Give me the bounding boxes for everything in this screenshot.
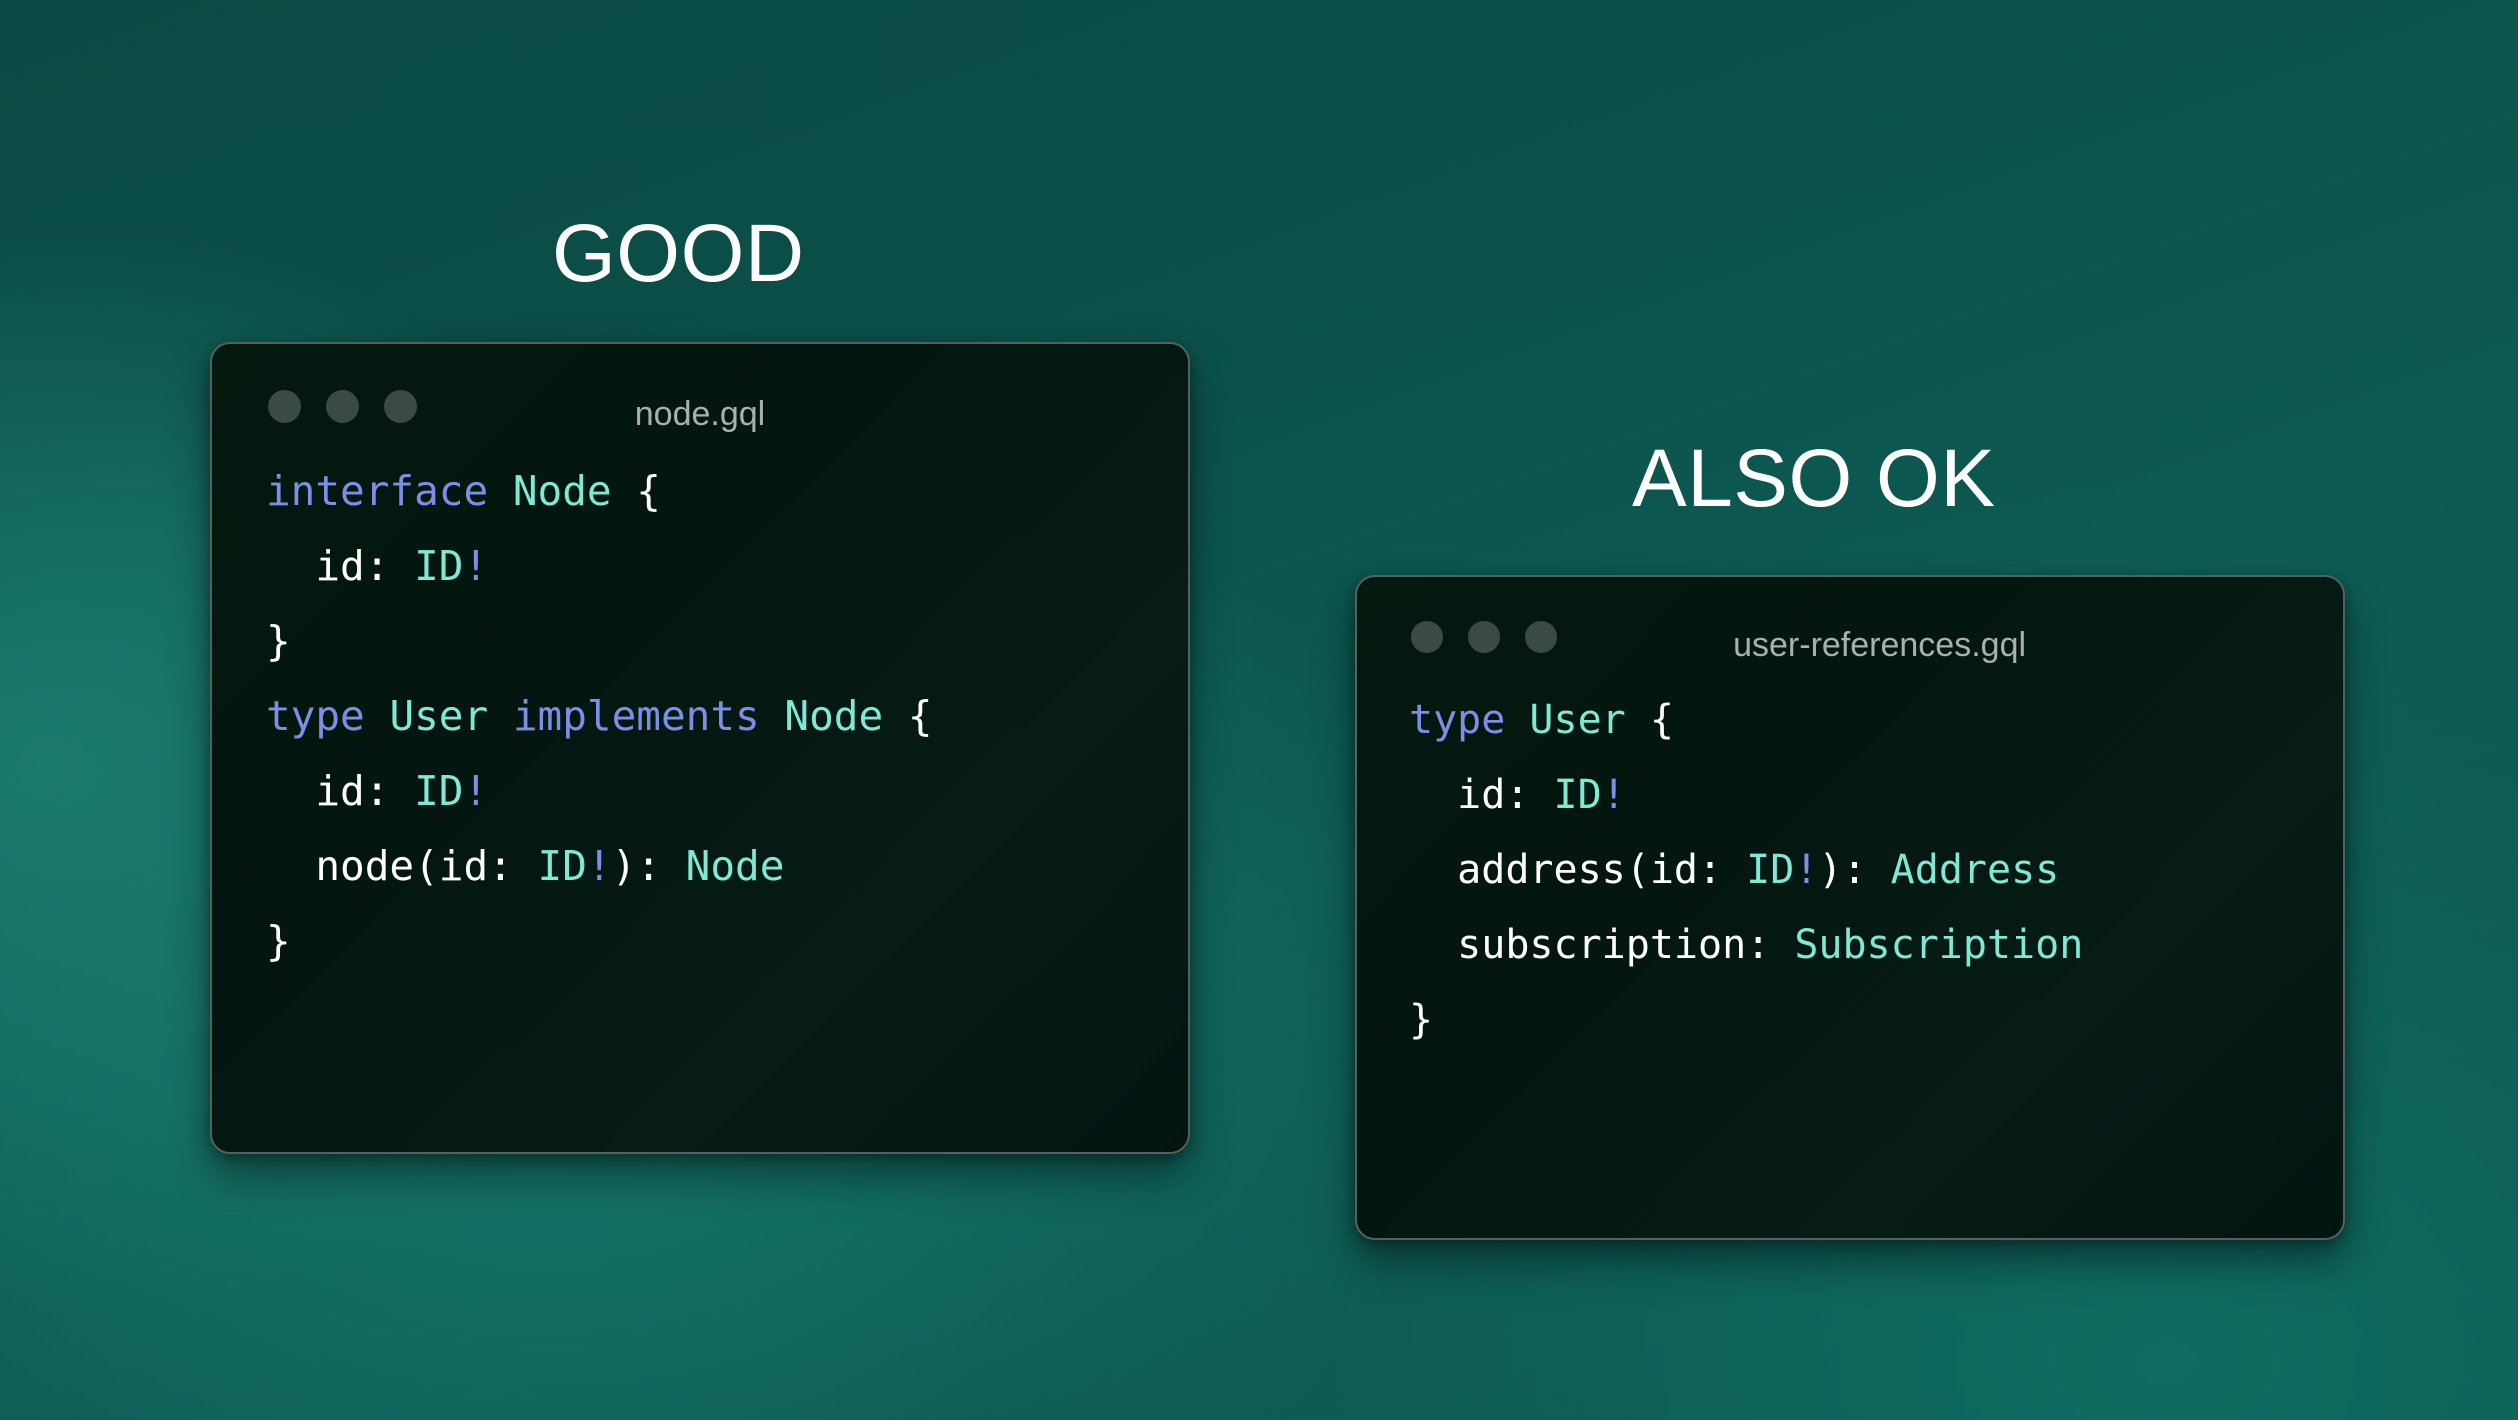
code-token-type: User bbox=[389, 692, 488, 740]
minimize-dot-icon[interactable] bbox=[326, 390, 359, 423]
code-token-punctuation: } bbox=[266, 617, 291, 665]
code-token-punctuation: { bbox=[612, 467, 661, 515]
code-line: id: ID! bbox=[266, 529, 1188, 604]
window-titlebar: user-references.gql bbox=[1357, 577, 2343, 669]
window-filename: user-references.gql bbox=[1733, 628, 2026, 662]
code-line: type User { bbox=[1409, 683, 2343, 758]
code-token-type: Subscription bbox=[1794, 922, 2083, 968]
code-block-also-ok: type User { id: ID! address(id: ID!): Ad… bbox=[1357, 669, 2343, 1058]
code-token-bang: ! bbox=[587, 842, 612, 890]
code-token-type: Node bbox=[513, 467, 612, 515]
code-line: id: ID! bbox=[1409, 758, 2343, 833]
code-token-type: Node bbox=[686, 842, 785, 890]
code-token-type: ID bbox=[1746, 847, 1794, 893]
code-line: type User implements Node { bbox=[266, 679, 1188, 754]
code-token-type: Address bbox=[1891, 847, 2060, 893]
comparison-canvas: GOOD node.gql interface Node { id: ID! }… bbox=[0, 0, 2518, 1420]
code-token-punctuation bbox=[760, 692, 785, 740]
code-token-type: User bbox=[1529, 697, 1625, 743]
maximize-dot-icon[interactable] bbox=[384, 390, 417, 423]
heading-also-ok: ALSO OK bbox=[1632, 438, 1996, 520]
code-line: interface Node { bbox=[266, 454, 1188, 529]
code-token-punctuation: } bbox=[1409, 997, 1433, 1043]
code-window-also-ok[interactable]: user-references.gql type User { id: ID! … bbox=[1355, 575, 2345, 1240]
code-line: subscription: Subscription bbox=[1409, 908, 2343, 983]
code-token-type: ID bbox=[1554, 772, 1602, 818]
code-token-type: ID bbox=[538, 842, 587, 890]
code-token-punctuation: ): bbox=[612, 842, 686, 890]
code-token-punctuation: id: bbox=[1409, 772, 1554, 818]
traffic-light-group bbox=[1411, 621, 1557, 653]
minimize-dot-icon[interactable] bbox=[1468, 621, 1500, 653]
close-dot-icon[interactable] bbox=[268, 390, 301, 423]
code-token-punctuation: ): bbox=[1818, 847, 1890, 893]
code-token-keyword: interface bbox=[266, 467, 488, 515]
code-line: } bbox=[1409, 983, 2343, 1058]
code-token-punctuation: { bbox=[883, 692, 932, 740]
code-token-punctuation: } bbox=[266, 917, 291, 965]
code-token-bang: ! bbox=[1794, 847, 1818, 893]
maximize-dot-icon[interactable] bbox=[1525, 621, 1557, 653]
code-token-keyword: implements bbox=[513, 692, 760, 740]
code-token-punctuation: id: bbox=[266, 767, 414, 815]
code-token-punctuation bbox=[1505, 697, 1529, 743]
code-token-bang: ! bbox=[463, 767, 488, 815]
code-token-bang: ! bbox=[463, 542, 488, 590]
code-token-type: Node bbox=[784, 692, 883, 740]
code-token-punctuation bbox=[488, 467, 513, 515]
code-block-good: interface Node { id: ID! } type User imp… bbox=[212, 436, 1188, 979]
code-token-type: ID bbox=[414, 767, 463, 815]
window-titlebar: node.gql bbox=[212, 344, 1188, 436]
code-token-keyword: type bbox=[1409, 697, 1505, 743]
traffic-light-group bbox=[268, 390, 417, 423]
code-token-punctuation: subscription: bbox=[1409, 922, 1794, 968]
code-line: node(id: ID!): Node bbox=[266, 829, 1188, 904]
code-window-good[interactable]: node.gql interface Node { id: ID! } type… bbox=[210, 342, 1190, 1154]
code-token-punctuation bbox=[488, 692, 513, 740]
code-line: id: ID! bbox=[266, 754, 1188, 829]
code-line: address(id: ID!): Address bbox=[1409, 833, 2343, 908]
window-filename: node.gql bbox=[635, 397, 765, 431]
code-token-type: ID bbox=[414, 542, 463, 590]
code-token-punctuation: id: bbox=[266, 542, 414, 590]
code-line: } bbox=[266, 604, 1188, 679]
code-token-bang: ! bbox=[1602, 772, 1626, 818]
heading-good: GOOD bbox=[552, 213, 805, 295]
code-token-punctuation: { bbox=[1626, 697, 1674, 743]
code-token-punctuation: address(id: bbox=[1409, 847, 1746, 893]
code-token-punctuation: node(id: bbox=[266, 842, 538, 890]
close-dot-icon[interactable] bbox=[1411, 621, 1443, 653]
code-token-keyword: type bbox=[266, 692, 365, 740]
code-line: } bbox=[266, 904, 1188, 979]
code-token-punctuation bbox=[365, 692, 390, 740]
